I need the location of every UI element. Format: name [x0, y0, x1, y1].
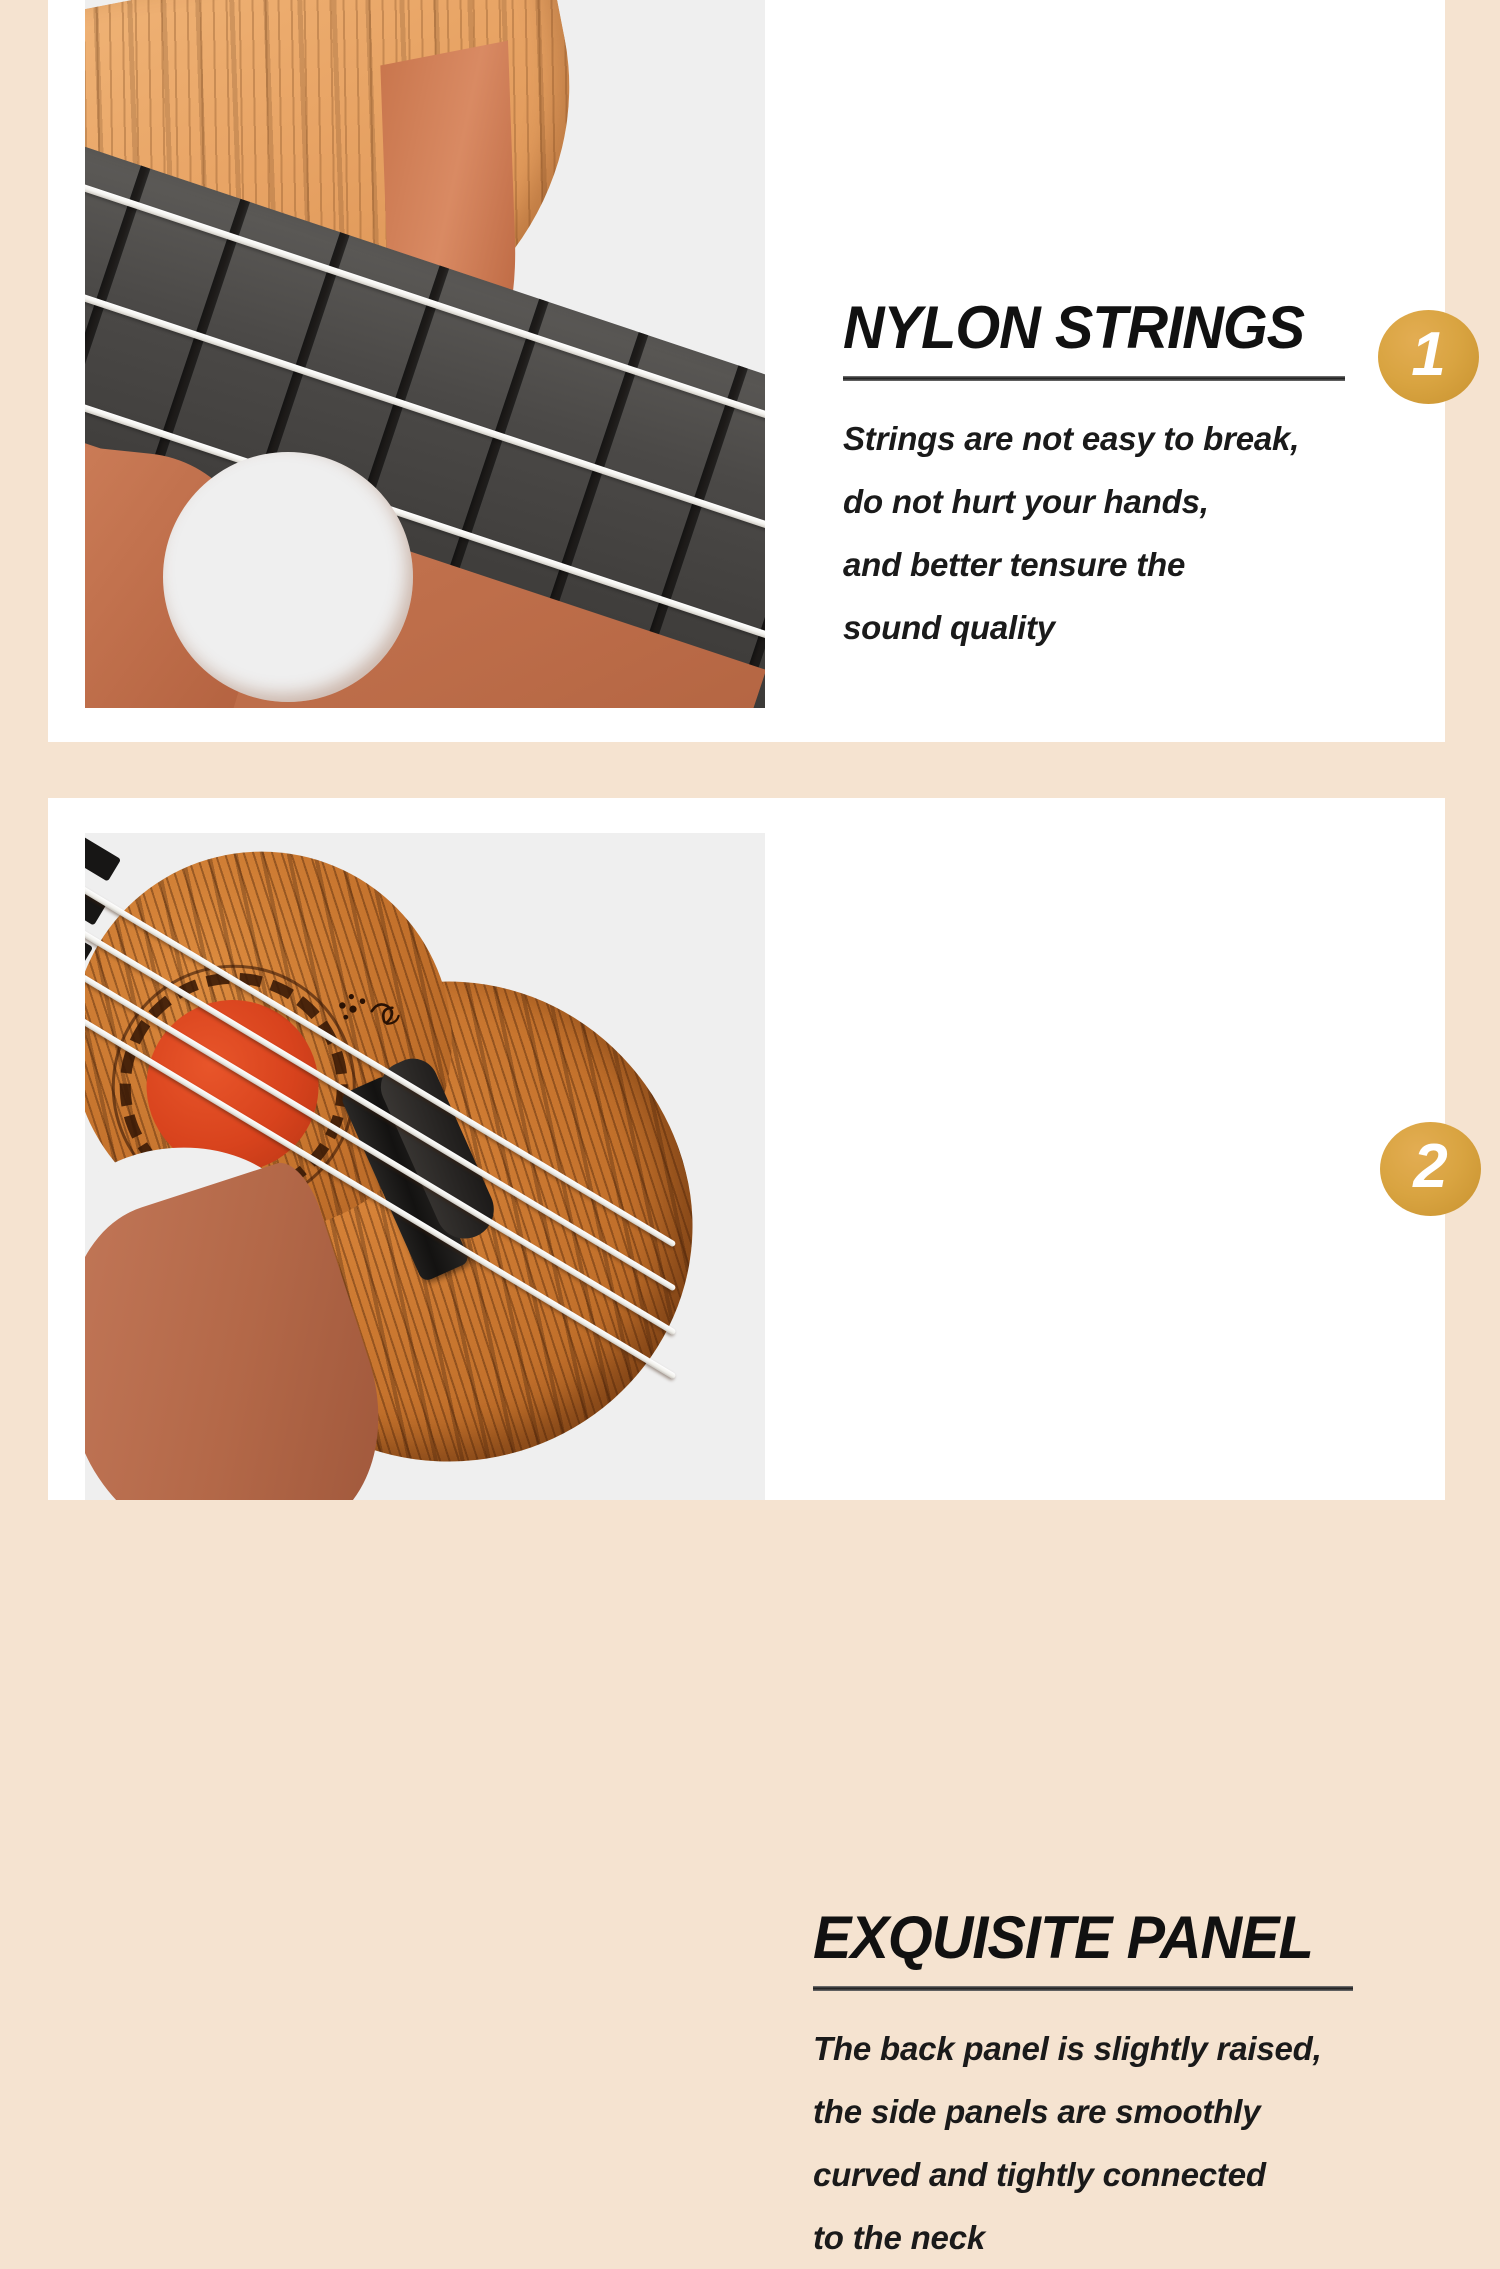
description-line: Strings are not easy to break, — [843, 407, 1443, 470]
description-line: and better tensure the — [843, 533, 1443, 596]
ukulele-body-photo — [85, 833, 765, 1500]
badge-number-1: 1 — [1411, 324, 1445, 386]
description-line: do not hurt your hands, — [843, 470, 1443, 533]
feature-panel-2: EXQUISITE PANEL The back panel is slight… — [48, 798, 1445, 1500]
body-cutaway-curve — [163, 452, 413, 702]
feature-text-1: NYLON STRINGS Strings are not easy to br… — [843, 296, 1443, 659]
feature-text-2: EXQUISITE PANEL The back panel is slight… — [813, 1906, 1453, 2269]
feature-badge-1: 1 — [1378, 310, 1479, 404]
ukulele-fretboard-photo — [85, 0, 765, 708]
feature-title-2: EXQUISITE PANEL — [813, 1906, 1427, 1970]
feature-panel-1: NYLON STRINGS Strings are not easy to br… — [48, 0, 1445, 742]
description-line: sound quality — [843, 596, 1443, 659]
feature-badge-2: 2 — [1380, 1122, 1481, 1216]
description-line: to the neck — [813, 2206, 1453, 2269]
feature-title-1: NYLON STRINGS — [843, 296, 1419, 360]
infographic-page: NYLON STRINGS Strings are not easy to br… — [0, 0, 1500, 1500]
description-line: The back panel is slightly raised, — [813, 2017, 1453, 2080]
nylon-strings-group — [85, 833, 765, 1500]
description-line: curved and tightly connected — [813, 2143, 1453, 2206]
feature-description-1: Strings are not easy to break, do not hu… — [843, 381, 1443, 659]
badge-number-2: 2 — [1413, 1136, 1447, 1198]
description-line: the side panels are smoothly — [813, 2080, 1453, 2143]
feature-description-2: The back panel is slightly raised, the s… — [813, 1991, 1453, 2269]
